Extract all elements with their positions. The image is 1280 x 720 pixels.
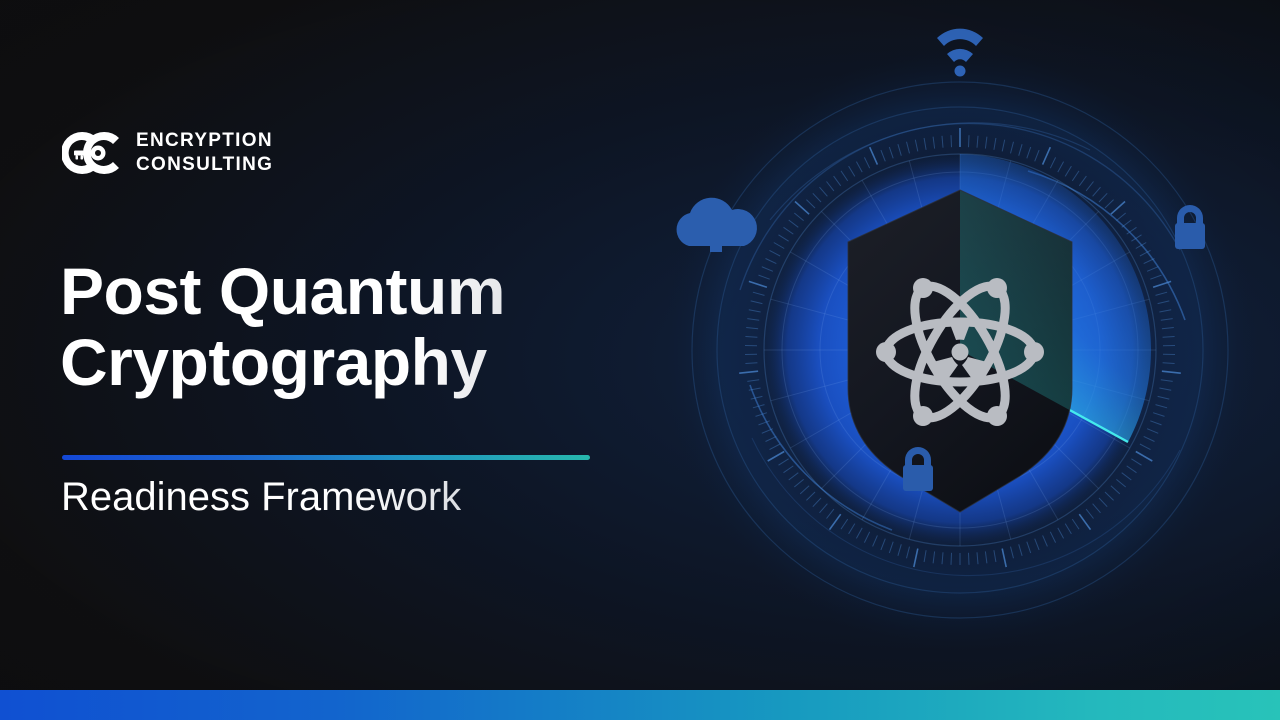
title-line-1: Post Quantum xyxy=(60,256,620,327)
brand-logo: ENCRYPTION CONSULTING xyxy=(62,130,273,176)
page-subtitle: Readiness Framework xyxy=(61,473,461,521)
quantum-security-radar-illustration xyxy=(620,0,1280,690)
lock-icon xyxy=(1175,205,1205,249)
title-line-2: Cryptography xyxy=(60,327,620,398)
left-content-panel: ENCRYPTION CONSULTING Post Quantum Crypt… xyxy=(0,0,640,720)
footer-accent-bar xyxy=(0,690,1280,720)
brand-name-line2: CONSULTING xyxy=(136,155,273,176)
title-divider xyxy=(62,455,590,460)
lock-icon xyxy=(903,447,933,491)
encryption-consulting-key-logo xyxy=(62,130,122,176)
brand-name-line1: ENCRYPTION xyxy=(136,131,273,152)
brand-name: ENCRYPTION CONSULTING xyxy=(136,131,273,175)
page-title: Post Quantum Cryptography xyxy=(60,256,620,399)
presentation-slide: ENCRYPTION CONSULTING Post Quantum Crypt… xyxy=(0,0,1280,720)
